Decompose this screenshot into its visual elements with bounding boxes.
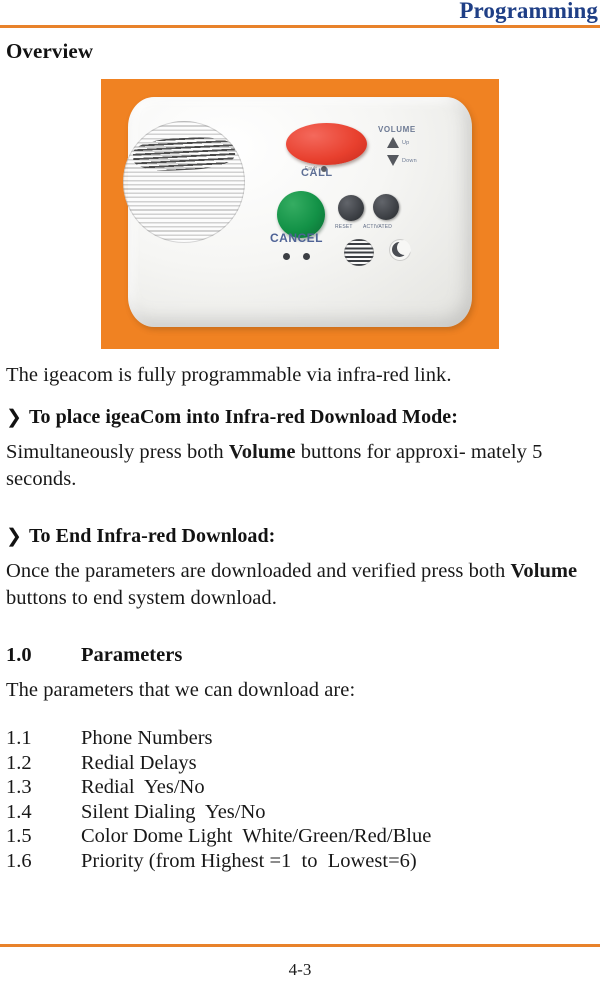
moon-icon	[389, 239, 411, 261]
parameter-number-1-4: 1.4	[6, 800, 81, 825]
chevron-right-icon-2: ❯	[6, 526, 29, 547]
footer-divider-rule	[0, 944, 600, 947]
device-small-grille-icon	[344, 239, 374, 266]
list-item: 1.3 Redial Yes/No	[6, 775, 594, 800]
triangle-down-icon	[387, 155, 399, 166]
parameter-number-1-5: 1.5	[6, 824, 81, 849]
parameter-label-1-6: Priority (from Highest =1 to Lowest=6)	[81, 849, 417, 874]
speaker-grille-ring	[123, 121, 245, 243]
device-call-label: CALL	[301, 167, 333, 179]
device-activated-button	[373, 194, 399, 220]
procedure-body-2-post: buttons to end system download.	[6, 587, 277, 609]
parameter-label-1-1: Phone Numbers	[81, 726, 213, 751]
device-photo-frame: Link Activated Warn Fault CALL VOLU	[101, 79, 499, 349]
parameter-number-1-1: 1.1	[6, 726, 81, 751]
procedure-body-1-pre: Simultaneously press both	[6, 441, 229, 463]
triangle-up-icon	[387, 137, 399, 148]
device-volume-up-label: Up	[402, 140, 409, 146]
section-number: 1.0	[6, 641, 81, 669]
device-volume-down-label: Down	[402, 158, 417, 164]
list-item: 1.5 Color Dome Light White/Green/Red/Blu…	[6, 824, 594, 849]
device-call-button	[286, 123, 367, 165]
parameter-number-1-2: 1.2	[6, 751, 81, 776]
figure-device-photo: Link Activated Warn Fault CALL VOLU	[6, 79, 594, 349]
procedure-heading-download-mode: ❯To place igeaCom into Infra-red Downloa…	[6, 404, 594, 431]
parameter-label-1-4: Silent Dialing Yes/No	[81, 800, 266, 825]
parameter-number-1-6: 1.6	[6, 849, 81, 874]
device-volume-up-control: Up	[387, 137, 409, 148]
chevron-right-icon: ❯	[6, 407, 29, 428]
intro-paragraph: The igeacom is fully programmable via in…	[6, 362, 594, 389]
list-item: 1.4 Silent Dialing Yes/No	[6, 800, 594, 825]
section-intro-paragraph: The parameters that we can download are:	[6, 677, 594, 704]
list-item: 1.1 Phone Numbers	[6, 726, 594, 751]
device-reset-button-label: RESET	[335, 224, 353, 230]
procedure-heading-end-download: ❯To End Infra-red Download:	[6, 523, 594, 550]
device-cancel-label: CANCEL	[270, 231, 323, 245]
list-item: 1.2 Redial Delays	[6, 751, 594, 776]
page-content: Overview Link Activated Warn	[6, 36, 594, 873]
device-microphone-hole-icon-2	[303, 253, 310, 260]
page-title: Overview	[6, 36, 594, 66]
parameter-label-1-5: Color Dome Light White/Green/Red/Blue	[81, 824, 431, 849]
procedure-body-2: Once the parameters are downloaded and v…	[6, 558, 594, 612]
procedure-body-2-bold: Volume	[510, 560, 577, 582]
procedure-body-1-bold: Volume	[229, 441, 296, 463]
device-microphone-hole-icon-1	[283, 253, 290, 260]
parameter-label-1-2: Redial Delays	[81, 751, 197, 776]
procedure-body-1: Simultaneously press both Volume buttons…	[6, 439, 594, 493]
parameter-number-1-3: 1.3	[6, 775, 81, 800]
list-item: 1.6 Priority (from Highest =1 to Lowest=…	[6, 849, 594, 874]
section-title: Parameters	[81, 641, 182, 669]
parameter-label-1-3: Redial Yes/No	[81, 775, 205, 800]
device-activated-button-label: ACTIVATED	[363, 224, 392, 230]
header-divider-rule	[0, 25, 600, 28]
section-heading-parameters: 1.0 Parameters	[6, 641, 594, 669]
running-head-title: Programming	[459, 0, 598, 24]
device-reset-button	[338, 195, 364, 221]
procedure-body-2-pre: Once the parameters are downloaded and v…	[6, 560, 510, 582]
device-volume-label: VOLUME	[378, 125, 416, 134]
parameter-list: 1.1 Phone Numbers 1.2 Redial Delays 1.3 …	[6, 726, 594, 873]
procedure-heading-text-1: To place igeaCom into Infra-red Download…	[29, 406, 458, 428]
page-number: 4-3	[0, 960, 600, 980]
device-volume-down-control: Down	[387, 155, 417, 166]
procedure-heading-text-2: To End Infra-red Download:	[29, 525, 275, 547]
